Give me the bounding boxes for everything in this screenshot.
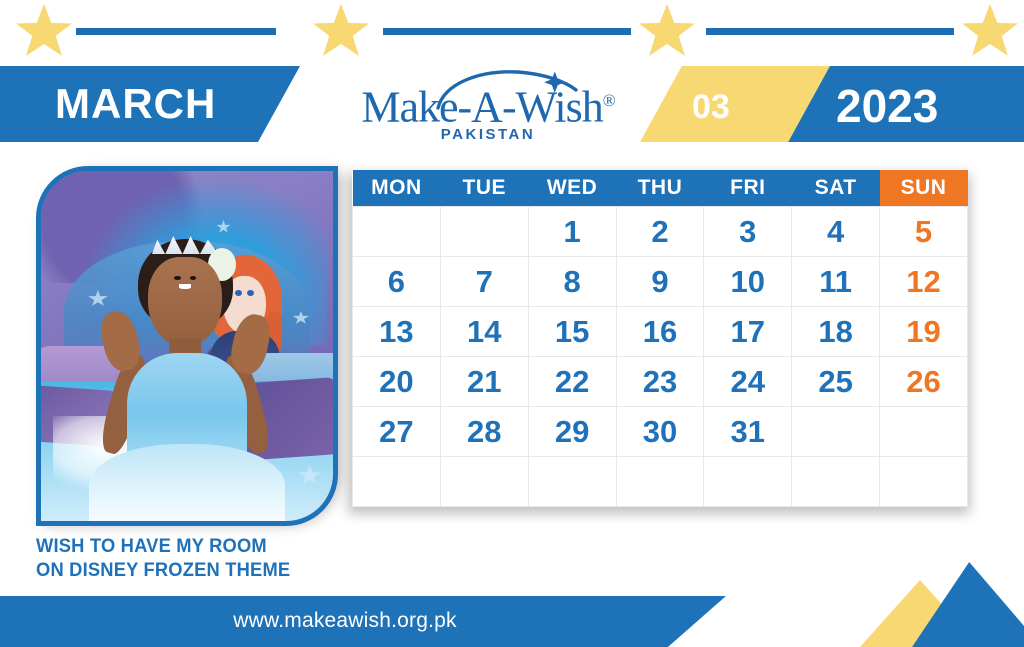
day-cell[interactable]: 27 <box>353 407 441 457</box>
month-label: MARCH <box>55 80 216 128</box>
child-face <box>148 257 222 347</box>
wish-caption-line-1: WISH TO HAVE MY ROOM <box>36 534 374 558</box>
day-cell[interactable]: 8 <box>528 257 616 307</box>
star-icon <box>962 4 1018 58</box>
day-cell-sunday[interactable]: 12 <box>880 257 968 307</box>
day-cell[interactable] <box>704 457 792 507</box>
day-cell[interactable]: 17 <box>704 307 792 357</box>
wish-caption-line-2: ON DISNEY FROZEN THEME <box>36 558 374 582</box>
calendar-body: 1 2 3 4 5 6 7 8 9 10 11 12 13 14 15 16 1… <box>353 207 968 507</box>
day-cell[interactable] <box>528 457 616 507</box>
day-cell[interactable]: 14 <box>440 307 528 357</box>
day-cell[interactable]: 10 <box>704 257 792 307</box>
website-link[interactable]: www.makeawish.org.pk <box>0 609 690 633</box>
child-eye-right <box>190 276 197 280</box>
calendar-week-row: 13 14 15 16 17 18 19 <box>353 307 968 357</box>
day-cell[interactable]: 1 <box>528 207 616 257</box>
calendar-week-row <box>353 457 968 507</box>
wish-caption: WISH TO HAVE MY ROOM ON DISNEY FROZEN TH… <box>36 534 396 582</box>
photo-image <box>41 171 333 521</box>
day-cell[interactable]: 3 <box>704 207 792 257</box>
logo-name: Make-A-Wish <box>361 83 602 132</box>
day-cell[interactable] <box>353 457 441 507</box>
month-number-label: 03 <box>692 88 730 127</box>
day-cell[interactable]: 13 <box>353 307 441 357</box>
divider-rule <box>383 28 631 35</box>
day-cell-sunday[interactable]: 5 <box>880 207 968 257</box>
day-cell-sunday[interactable]: 19 <box>880 307 968 357</box>
day-cell[interactable]: 21 <box>440 357 528 407</box>
day-cell-sunday[interactable] <box>880 457 968 507</box>
calendar-week-row: 6 7 8 9 10 11 12 <box>353 257 968 307</box>
weekday-header-sat: SAT <box>792 170 880 207</box>
calendar-page: MARCH Make-A-Wish® PAKISTAN 03 2023 <box>0 0 1024 647</box>
day-cell[interactable] <box>792 457 880 507</box>
day-cell[interactable]: 23 <box>616 357 704 407</box>
weekday-header-thu: THU <box>616 170 704 207</box>
weekday-header-wed: WED <box>528 170 616 207</box>
logo-wordmark: Make-A-Wish® <box>338 78 638 131</box>
calendar-week-row: 1 2 3 4 5 <box>353 207 968 257</box>
day-cell[interactable] <box>792 407 880 457</box>
day-cell-sunday[interactable] <box>880 407 968 457</box>
day-cell[interactable]: 7 <box>440 257 528 307</box>
day-cell[interactable]: 29 <box>528 407 616 457</box>
day-cell[interactable]: 2 <box>616 207 704 257</box>
day-cell[interactable]: 9 <box>616 257 704 307</box>
weekday-header-mon: MON <box>353 170 441 207</box>
day-cell[interactable]: 6 <box>353 257 441 307</box>
day-cell-sunday[interactable]: 26 <box>880 357 968 407</box>
child-skirt <box>89 444 285 521</box>
wish-child <box>99 227 274 521</box>
day-cell[interactable]: 20 <box>353 357 441 407</box>
day-cell[interactable] <box>440 207 528 257</box>
year-label: 2023 <box>836 79 938 133</box>
day-cell[interactable]: 30 <box>616 407 704 457</box>
calendar-week-row: 27 28 29 30 31 <box>353 407 968 457</box>
divider-rule <box>706 28 954 35</box>
logo-country: PAKISTAN <box>338 126 638 143</box>
star-icon <box>639 4 695 58</box>
weekday-header-tue: TUE <box>440 170 528 207</box>
logo-registered-mark: ® <box>603 91 615 110</box>
wish-child-photo <box>36 166 338 526</box>
day-cell[interactable]: 16 <box>616 307 704 357</box>
day-cell[interactable]: 22 <box>528 357 616 407</box>
child-eye-left <box>174 276 181 280</box>
day-cell[interactable]: 31 <box>704 407 792 457</box>
child-hand-right <box>227 311 274 377</box>
day-cell[interactable]: 24 <box>704 357 792 407</box>
child-smile <box>179 284 191 289</box>
month-banner: MARCH <box>0 66 300 142</box>
day-cell[interactable]: 25 <box>792 357 880 407</box>
calendar-grid: MON TUE WED THU FRI SAT SUN 1 2 3 4 5 6 <box>352 170 968 507</box>
title-row: MARCH Make-A-Wish® PAKISTAN 03 2023 <box>0 66 1024 142</box>
weekday-header-fri: FRI <box>704 170 792 207</box>
day-cell[interactable]: 11 <box>792 257 880 307</box>
day-cell[interactable]: 15 <box>528 307 616 357</box>
divider-rule <box>76 28 276 35</box>
star-strip <box>0 0 1024 62</box>
calendar-header-row: MON TUE WED THU FRI SAT SUN <box>353 170 968 207</box>
day-cell[interactable] <box>440 457 528 507</box>
star-icon <box>16 4 72 58</box>
day-cell[interactable] <box>616 457 704 507</box>
weekday-header-sun: SUN <box>880 170 968 207</box>
day-cell[interactable]: 28 <box>440 407 528 457</box>
day-cell[interactable]: 18 <box>792 307 880 357</box>
star-icon <box>313 4 369 58</box>
day-cell[interactable]: 4 <box>792 207 880 257</box>
day-cell[interactable] <box>353 207 441 257</box>
make-a-wish-logo: Make-A-Wish® PAKISTAN <box>338 64 638 150</box>
calendar-week-row: 20 21 22 23 24 25 26 <box>353 357 968 407</box>
child-hand-left <box>97 308 144 374</box>
